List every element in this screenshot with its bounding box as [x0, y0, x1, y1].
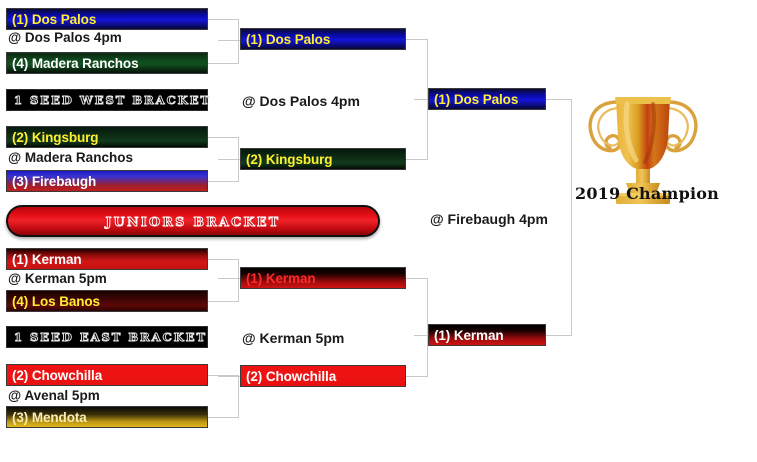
connector-line: [208, 301, 238, 302]
connector-line: [208, 417, 238, 418]
team-bar-chowchilla-r1[interactable]: (2) Chowchilla: [6, 364, 208, 386]
team-bar-kerman-r1[interactable]: (1) Kerman: [6, 248, 208, 270]
connector-line: [208, 259, 238, 260]
banner-east-bracket: 1 SEED EAST BRACKET: [6, 326, 208, 348]
team-bar-firebaugh-r1[interactable]: (3) Firebaugh: [6, 170, 208, 192]
connector-line: [406, 159, 428, 160]
connector-line: [414, 99, 428, 100]
team-bar-mendota-r1[interactable]: (3) Mendota: [6, 406, 208, 428]
connector-line: [427, 278, 428, 377]
match-site-final: @ Firebaugh 4pm: [430, 211, 548, 227]
team-bar-kingsburg-r2[interactable]: (2) Kingsburg: [240, 148, 406, 170]
banner-east-label: 1 SEED EAST BRACKET: [14, 330, 207, 344]
connector-line: [406, 278, 428, 279]
connector-line: [238, 375, 239, 418]
connector-line: [208, 63, 238, 64]
connector-line: [218, 376, 240, 377]
match-site-west-2: @ Madera Ranchos: [8, 150, 133, 165]
connector-line: [406, 376, 428, 377]
team-bar-kerman-final[interactable]: (1) Kerman: [428, 324, 546, 346]
tournament-bracket: (1) Dos Palos @ Dos Palos 4pm (4) Madera…: [0, 0, 757, 462]
banner-juniors-bracket: JUNIORS BRACKET: [6, 205, 380, 237]
banner-west-label: 1 SEED WEST BRACKET: [14, 93, 211, 107]
connector-line: [218, 278, 240, 279]
team-bar-dos-palos-r2[interactable]: (1) Dos Palos: [240, 28, 406, 50]
connector-line: [546, 335, 572, 336]
team-bar-madera-ranchos-r1[interactable]: (4) Madera Ranchos: [6, 52, 208, 74]
match-site-semifinal-east: @ Kerman 5pm: [242, 330, 344, 346]
connector-line: [238, 19, 239, 64]
banner-west-bracket: 1 SEED WEST BRACKET: [6, 89, 208, 111]
connector-line: [546, 99, 572, 100]
team-bar-dos-palos-final[interactable]: (1) Dos Palos: [428, 88, 546, 110]
connector-line: [218, 159, 240, 160]
banner-juniors-label: JUNIORS BRACKET: [105, 214, 280, 229]
champion-label: 2019 Champion: [575, 184, 711, 203]
team-bar-kingsburg-r1[interactable]: (2) Kingsburg: [6, 126, 208, 148]
team-bar-chowchilla-r2[interactable]: (2) Chowchilla: [240, 365, 406, 387]
match-site-semifinal-west: @ Dos Palos 4pm: [242, 93, 360, 109]
connector-line: [208, 181, 238, 182]
match-site-east-1: @ Kerman 5pm: [8, 271, 107, 286]
connector-line: [406, 39, 428, 40]
team-bar-dos-palos-r1[interactable]: (1) Dos Palos: [6, 8, 208, 30]
connector-line: [414, 335, 428, 336]
connector-line: [208, 137, 238, 138]
team-bar-los-banos-r1[interactable]: (4) Los Banos: [6, 290, 208, 312]
connector-line: [238, 259, 239, 302]
match-site-east-2: @ Avenal 5pm: [8, 388, 100, 403]
connector-line: [571, 99, 572, 336]
team-bar-kerman-r2[interactable]: (1) Kerman: [240, 267, 406, 289]
match-site-west-1: @ Dos Palos 4pm: [8, 30, 122, 45]
connector-line: [218, 40, 240, 41]
connector-line: [208, 19, 238, 20]
